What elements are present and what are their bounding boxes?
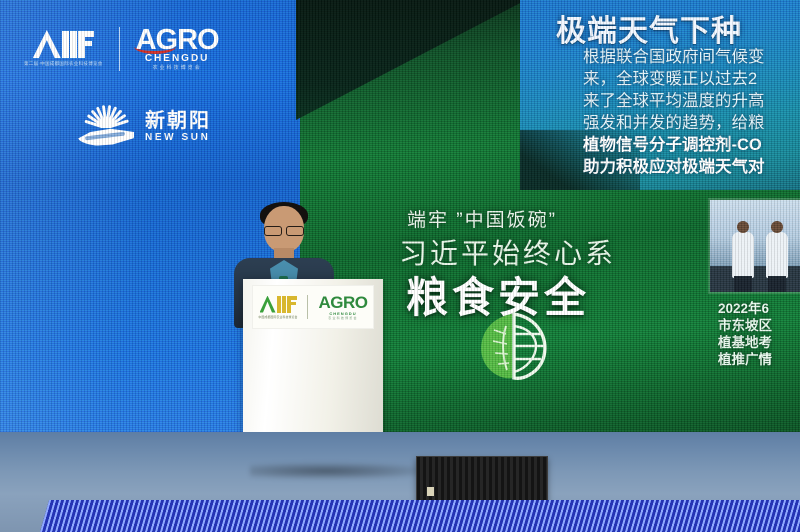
stage-edge-led-strip [40, 500, 800, 532]
slide-body-text: 根据联合国政府间气候变 来，全球变暖正以过去2 来了全球平均温度的升高 强发和并… [583, 46, 800, 178]
aiif-letter-i [62, 31, 69, 58]
body-line: 来了全球平均温度的升高 [583, 90, 800, 112]
body-line-highlight: 植物信号分子调控剂-CO [583, 134, 800, 156]
newsun-name-cn: 新朝阳 [145, 111, 211, 132]
podium-aiif-letter-f [287, 296, 297, 313]
monitor-indicator-light [427, 487, 434, 496]
podium-logo-plate: 中国成都国际农业科技博览会 AGRO CHENGDU 农业科技博览会 [252, 285, 374, 329]
podium-floor-shadow [250, 462, 440, 480]
led-video-wall: 极端天气下种 根据联合国政府间气候变 来，全球变暖正以过去2 来了全球平均温度的… [0, 0, 800, 432]
leaf-globe-emblem-icon [466, 306, 560, 384]
body-line: 强发和并发的趋势，给粮 [583, 112, 800, 134]
field-hill-icon [78, 128, 134, 146]
inset-photo-person [766, 232, 788, 278]
body-line: 根据联合国政府间气候变 [583, 46, 800, 68]
newsun-text: 新朝阳 NEW SUN [145, 111, 211, 143]
caption-line: 植推广情 [718, 351, 800, 368]
inset-photo-person [732, 232, 754, 278]
podium-logo-divider [307, 295, 308, 319]
aiif-mark-icon [33, 30, 94, 58]
podium-aiif-letter-i [277, 296, 281, 313]
podium-agro-wordmark: AGRO [318, 294, 367, 311]
aiif-letter-i2 [70, 31, 77, 58]
newsun-logo: 新朝阳 NEW SUN [78, 104, 211, 150]
agro-swoosh-icon [134, 39, 176, 54]
aiif-logo: 第二届·中国成都国际农业科技博览会 [24, 30, 103, 67]
podium-aiif-subtitle: 中国成都国际农业科技博览会 [259, 315, 298, 319]
podium-aiif-letter-i2 [282, 296, 286, 313]
screenshot-root: 极端天气下种 根据联合国政府间气候变 来，全球变暖正以过去2 来了全球平均温度的… [0, 0, 800, 532]
speaker-glasses-icon [263, 226, 305, 234]
sun-rays-icon [83, 104, 129, 128]
sunrise-field-icon [78, 104, 134, 150]
agro-logo: AGRO CHENGDU 农业科技博览会 [136, 26, 219, 71]
podium-agro-logo: AGRO CHENGDU 农业科技博览会 [318, 294, 367, 320]
slide-inset-photo [710, 200, 800, 292]
aiif-subtitle: 第二届·中国成都国际农业科技博览会 [24, 61, 103, 67]
slide-kicker-text: 端牢 ”中国饭碗” [407, 205, 557, 232]
caption-line: 植基地考 [718, 334, 800, 351]
aiif-letter-f [78, 31, 94, 58]
caption-line: 2022年6 [718, 300, 800, 317]
podium-aiif-mark-icon [260, 296, 297, 313]
aiif-peak-icon [33, 30, 61, 58]
agro-wordmark: AGRO [136, 26, 219, 54]
slide-photo-caption: 2022年6 市东坡区 植基地考 植推广情 [718, 300, 800, 368]
body-line-highlight: 助力积极应对极端天气对 [583, 156, 800, 178]
body-line: 来，全球变暖正以过去2 [583, 68, 800, 90]
podium-agro-subtitle-cn: 农业科技博览会 [328, 316, 357, 320]
podium-aiif-peak-icon [260, 296, 276, 313]
podium-aiif-logo: 中国成都国际农业科技博览会 [259, 296, 298, 319]
caption-line: 市东坡区 [718, 317, 800, 334]
slide-headline: 极端天气下种 [556, 6, 800, 50]
backdrop-logo-row: 第二届·中国成都国际农业科技博览会 AGRO CHENGDU 农业科技博览会 [24, 26, 219, 71]
newsun-name-en: NEW SUN [145, 132, 211, 143]
agro-subtitle-cn: 农业科技博览会 [153, 64, 202, 71]
logo-divider [119, 27, 120, 71]
